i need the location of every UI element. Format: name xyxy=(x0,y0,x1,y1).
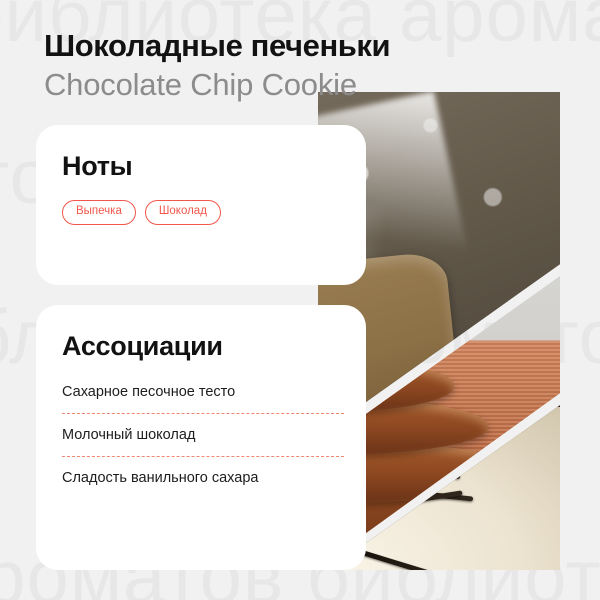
association-item: Сахарное песочное тесто xyxy=(62,384,344,413)
page-title: Шоколадные печеньки Chocolate Chip Cooki… xyxy=(44,28,390,103)
poster-canvas: библиотека ароматов ароматов библиотека … xyxy=(0,0,600,600)
notes-tag-list: Выпечка Шоколад xyxy=(62,200,366,225)
title-russian: Шоколадные печеньки xyxy=(44,28,390,65)
association-item: Молочный шоколад xyxy=(62,427,344,456)
associations-list: Сахарное песочное тесто Молочный шоколад… xyxy=(62,384,344,499)
association-separator xyxy=(62,456,344,457)
notes-card: Ноты Выпечка Шоколад xyxy=(36,125,366,285)
associations-card: Ассоциации Сахарное песочное тесто Молоч… xyxy=(36,305,366,570)
title-english: Chocolate Chip Cookie xyxy=(44,66,390,104)
associations-heading: Ассоциации xyxy=(62,331,366,362)
note-tag[interactable]: Выпечка xyxy=(62,200,136,225)
association-separator xyxy=(62,413,344,414)
note-tag[interactable]: Шоколад xyxy=(145,200,221,225)
association-item: Сладость ванильного сахара xyxy=(62,470,344,499)
notes-heading: Ноты xyxy=(62,151,366,182)
